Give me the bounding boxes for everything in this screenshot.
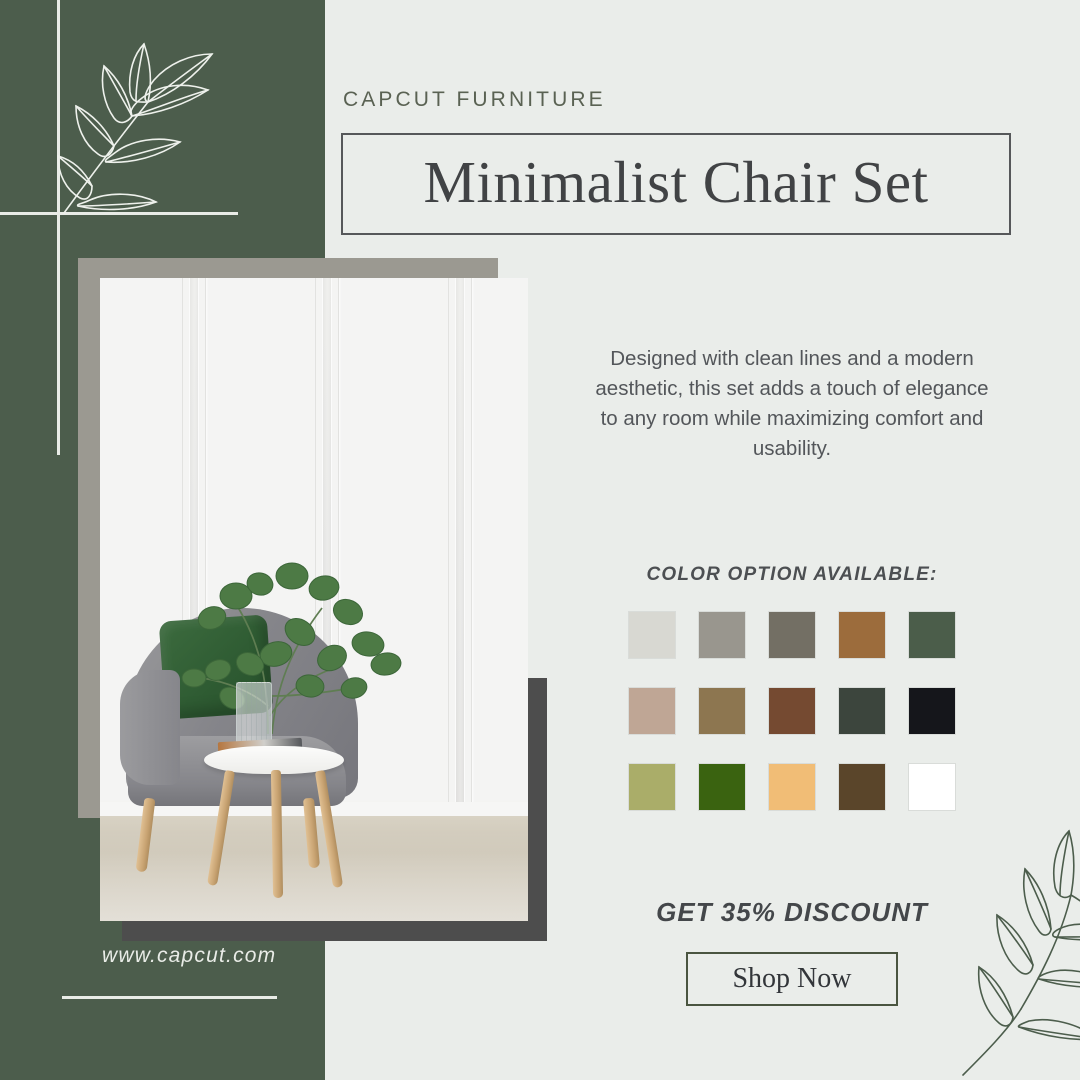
website-url[interactable]: www.capcut.com xyxy=(102,944,276,968)
discount-text: GET 35% DISCOUNT xyxy=(586,897,998,928)
color-swatch-blush-taupe[interactable] xyxy=(629,688,675,734)
title-box: Minimalist Chair Set xyxy=(341,133,1011,235)
product-description: Designed with clean lines and a modern a… xyxy=(586,344,998,464)
color-swatch-warm-grey[interactable] xyxy=(699,612,745,658)
color-swatch-coffee-brown[interactable] xyxy=(839,764,885,810)
leaf-branch-bottom-right-icon xyxy=(955,825,1080,1080)
wall-panel xyxy=(464,278,528,828)
color-swatch-grass-green[interactable] xyxy=(699,764,745,810)
color-swatch-white[interactable] xyxy=(909,764,955,810)
color-swatch-caramel-brown[interactable] xyxy=(839,612,885,658)
poster-canvas: www.capcut.com xyxy=(0,0,1080,1080)
color-options-label: COLOR OPTION AVAILABLE: xyxy=(586,564,998,586)
page-title: Minimalist Chair Set xyxy=(343,148,1009,217)
shop-now-button[interactable]: Shop Now xyxy=(686,952,898,1006)
eucalyptus-plant xyxy=(172,546,422,736)
color-swatch-light-grey[interactable] xyxy=(629,612,675,658)
footer-rule xyxy=(62,996,277,999)
leaf-branch-top-left-icon xyxy=(48,10,268,225)
product-photo xyxy=(100,278,528,921)
color-swatch-sage-olive[interactable] xyxy=(629,764,675,810)
color-swatch-chestnut[interactable] xyxy=(769,688,815,734)
armchair-arm xyxy=(120,670,180,785)
color-swatch-taupe-grey[interactable] xyxy=(769,612,815,658)
color-swatch-dark-slate-green[interactable] xyxy=(839,688,885,734)
color-swatch-forest-green[interactable] xyxy=(909,612,955,658)
color-swatch-olive-brown[interactable] xyxy=(699,688,745,734)
brand-eyebrow: CAPCUT FURNITURE xyxy=(343,88,606,112)
color-swatch-sand-peach[interactable] xyxy=(769,764,815,810)
color-swatch-grid xyxy=(629,612,955,810)
color-swatch-near-black[interactable] xyxy=(909,688,955,734)
